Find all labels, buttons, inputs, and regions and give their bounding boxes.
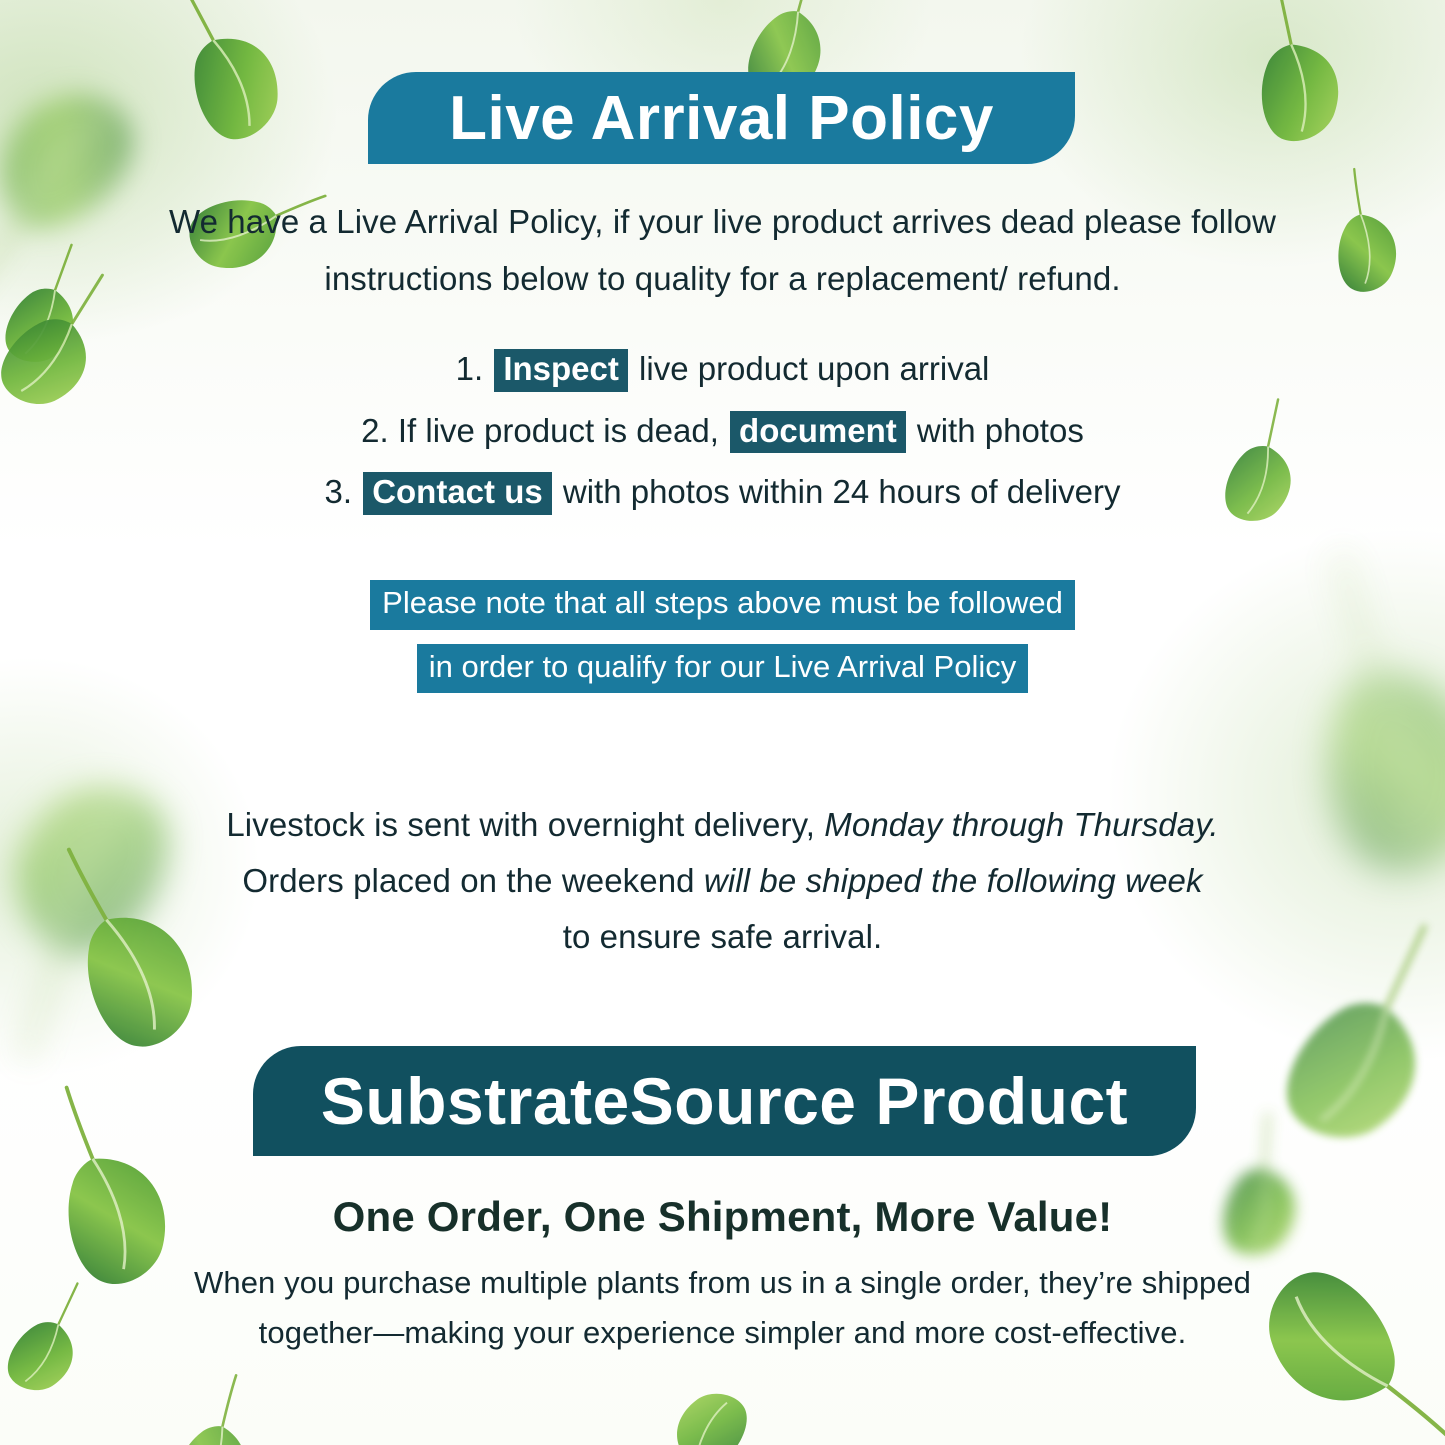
list-item: 3. Contact us with photos within 24 hour… bbox=[150, 471, 1295, 515]
shipping-schedule-paragraph: Livestock is sent with overnight deliver… bbox=[150, 797, 1295, 965]
note-line-2: in order to qualify for our Live Arrival… bbox=[417, 644, 1029, 694]
substrate-source-product-title: SubstrateSource Product bbox=[321, 1063, 1128, 1139]
shipping-line-2-plain: Orders placed on the weekend bbox=[242, 862, 704, 899]
value-proposition-paragraph: When you purchase multiple plants from u… bbox=[150, 1258, 1295, 1358]
live-arrival-policy-banner: Live Arrival Policy bbox=[368, 72, 1075, 164]
shipping-line-2-italic: will be shipped the following week bbox=[704, 862, 1203, 899]
intro-paragraph: We have a Live Arrival Policy, if your l… bbox=[150, 194, 1295, 308]
step-highlight-document: document bbox=[730, 411, 906, 454]
value-line-1: When you purchase multiple plants from u… bbox=[194, 1265, 1251, 1300]
substrate-source-product-banner: SubstrateSource Product bbox=[253, 1046, 1196, 1156]
list-item: 1. Inspect live product upon arrival bbox=[150, 348, 1295, 392]
step-text: with photos within 24 hours of delivery bbox=[563, 473, 1121, 510]
value-line-2: together—making your experience simpler … bbox=[259, 1315, 1187, 1350]
live-arrival-policy-title: Live Arrival Policy bbox=[449, 83, 994, 154]
step-number: 1. bbox=[456, 350, 484, 387]
shipping-line-1-plain: Livestock is sent with overnight deliver… bbox=[226, 806, 824, 843]
shipping-line-3: to ensure safe arrival. bbox=[563, 918, 883, 955]
shipping-line-1-italic: Monday through Thursday. bbox=[824, 806, 1218, 843]
step-text: with photos bbox=[917, 412, 1084, 449]
step-highlight-contact-us[interactable]: Contact us bbox=[363, 472, 552, 515]
intro-line-2: instructions below to quality for a repl… bbox=[324, 260, 1120, 297]
policy-page: Live Arrival Policy We have a Live Arriv… bbox=[0, 0, 1445, 1445]
step-text: live product upon arrival bbox=[639, 350, 989, 387]
step-highlight-inspect: Inspect bbox=[494, 349, 628, 392]
step-text-before: If live product is dead, bbox=[398, 412, 719, 449]
list-item: 2. If live product is dead, document wit… bbox=[150, 410, 1295, 454]
intro-line-1: We have a Live Arrival Policy, if your l… bbox=[169, 203, 1276, 240]
value-proposition-heading: One Order, One Shipment, More Value! bbox=[150, 1193, 1295, 1241]
note-line-1: Please note that all steps above must be… bbox=[370, 580, 1075, 630]
policy-note-block: Please note that all steps above must be… bbox=[150, 580, 1295, 707]
step-number: 3. bbox=[324, 473, 352, 510]
step-number: 2. bbox=[361, 412, 389, 449]
policy-steps-list: 1. Inspect live product upon arrival 2. … bbox=[150, 348, 1295, 533]
